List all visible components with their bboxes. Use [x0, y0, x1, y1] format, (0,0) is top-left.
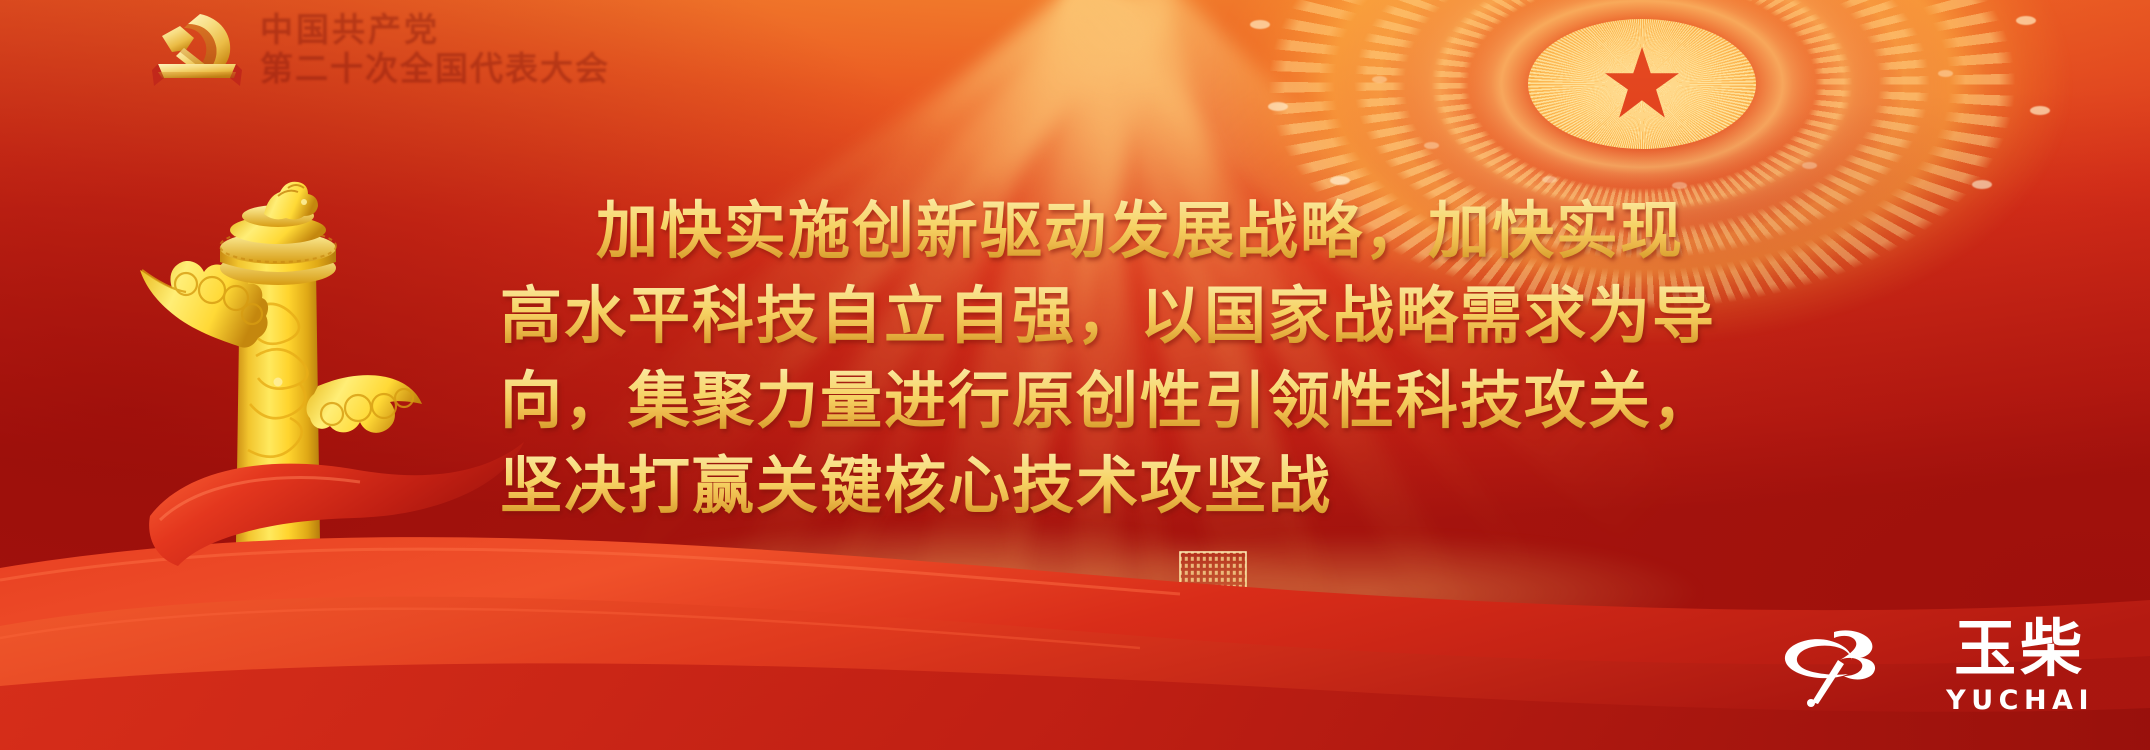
slogan-line-2: 高水平科技自立自强，以国家战略需求为导 [500, 273, 1740, 358]
ribbon-swirl [120, 420, 540, 600]
yuchai-swoosh-mark [1778, 626, 1928, 708]
slogan-line-3: 向，集聚力量进行原创性引领性科技攻关， [500, 358, 1740, 443]
yuchai-name-cn: 玉柴 [1954, 618, 2086, 680]
yuchai-logo: 玉柴 YUCHAI [1778, 618, 2094, 716]
congress-session-name: 第二十次全国代表大会 [260, 49, 610, 85]
yuchai-name-en: YUCHAI [1946, 685, 2094, 716]
slogan-line-4: 坚决打赢关键核心技术攻坚战 [500, 443, 1740, 528]
slogan-block: 加快实施创新驱动发展战略，加快实现 高水平科技自立自强，以国家战略需求为导 向，… [500, 188, 1740, 528]
congress-org-name: 中国共产党 [260, 10, 610, 46]
hammer-and-sickle-icon [150, 8, 244, 86]
party-congress-header: 中国共产党 第二十次全国代表大会 [150, 8, 610, 86]
banner-canvas: 中国共产党 第二十次全国代表大会 加快实施创新驱动发展战略，加快实现 高水平科技… [0, 0, 2150, 750]
slogan-line-1: 加快实施创新驱动发展战略，加快实现 [500, 188, 1740, 273]
